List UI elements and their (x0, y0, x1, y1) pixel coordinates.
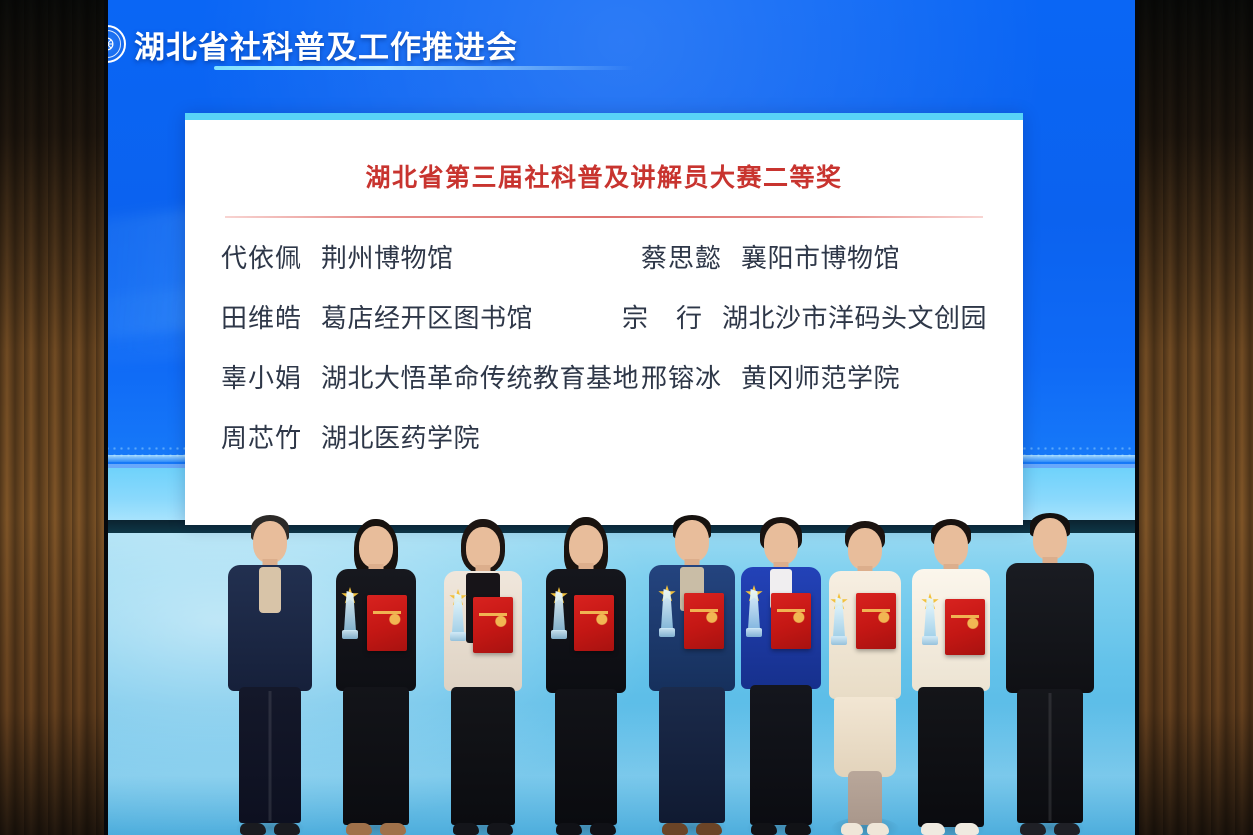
trophy-icon (921, 597, 939, 645)
person-awardee-7 (905, 519, 997, 835)
stage-curtain-left (0, 0, 104, 835)
certificate (367, 595, 407, 651)
person-presenter-left (215, 515, 325, 835)
trophy-icon (658, 589, 676, 637)
person-awardee-3 (538, 517, 634, 835)
trophy-icon (449, 593, 467, 641)
certificate (945, 599, 985, 655)
stage-curtain-right (1139, 0, 1253, 835)
photo-stage-scene: 湖北省社科普及工作推进会 湖北省第三届社科普及讲解员大赛二等奖 代依佩 荆州博物… (0, 0, 1253, 835)
person-awardee-6 (820, 521, 910, 835)
certificate (574, 595, 614, 651)
trophy-icon (830, 597, 848, 645)
award-recipients-group (0, 0, 1253, 835)
certificate (473, 597, 513, 653)
certificate (684, 593, 724, 649)
person-awardee-4 (640, 515, 744, 835)
certificate (771, 593, 811, 649)
trophy-icon (745, 589, 763, 637)
person-awardee-5 (733, 517, 829, 835)
trophy-icon (550, 591, 568, 639)
person-presenter-right (995, 513, 1105, 835)
person-awardee-1 (327, 519, 425, 835)
certificate (856, 593, 896, 649)
person-awardee-2 (435, 519, 531, 835)
trophy-icon (341, 591, 359, 639)
